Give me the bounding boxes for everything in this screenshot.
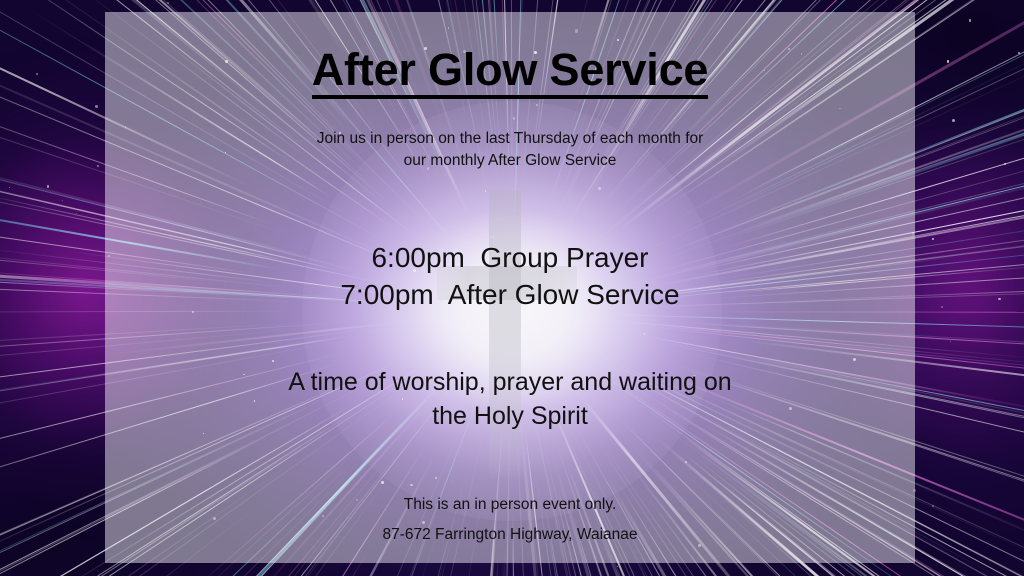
schedule-row-2: 7:00pm After Glow Service — [105, 277, 915, 314]
schedule-list: 6:00pm Group Prayer 7:00pm After Glow Se… — [105, 240, 915, 314]
content-panel: After Glow Service Join us in person on … — [105, 12, 915, 563]
tagline-line-2: the Holy Spirit — [105, 400, 915, 434]
subtitle-block: Join us in person on the last Thursday o… — [105, 128, 915, 173]
flyer-canvas: After Glow Service Join us in person on … — [0, 0, 1024, 576]
subtitle-line-1: Join us in person on the last Thursday o… — [105, 128, 915, 150]
footer-block: This is an in person event only. 87-672 … — [105, 490, 915, 549]
tagline-block: A time of worship, prayer and waiting on… — [105, 366, 915, 434]
schedule-row-1: 6:00pm Group Prayer — [105, 240, 915, 277]
tagline-line-1: A time of worship, prayer and waiting on — [105, 366, 915, 400]
footer-note: This is an in person event only. — [105, 490, 915, 519]
subtitle-line-2: our monthly After Glow Service — [105, 150, 915, 172]
page-title-text: After Glow Service — [312, 46, 709, 99]
footer-address: 87-672 Farrington Highway, Waianae — [105, 520, 915, 549]
page-title: After Glow Service — [105, 46, 915, 99]
